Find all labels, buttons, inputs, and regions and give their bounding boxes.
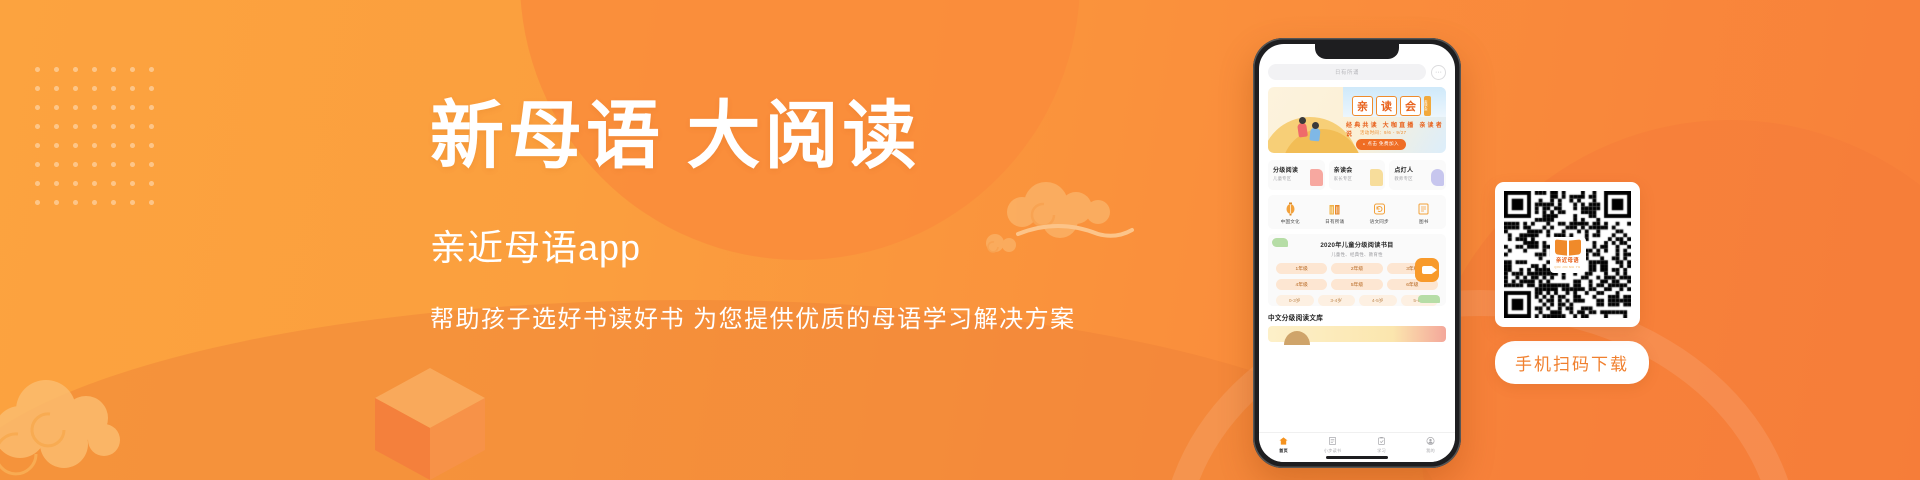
hero-child-red [1297,122,1308,137]
banner-copy: 新母语 大阅读 亲近母语app 帮助孩子选好书读好书 为您提供优质的母语学习解决… [430,96,1230,334]
hero-child-blue [1309,128,1320,142]
age-pill[interactable]: 4-5岁 [1359,295,1397,306]
download-button[interactable]: 手机扫码下载 [1495,341,1649,384]
decor-cube-icon [370,364,490,480]
banner-tagline: 帮助孩子选好书读好书 为您提供优质的母语学习解决方案 [430,299,1230,334]
book-page-left [1555,239,1567,255]
quick-icon-label: 日有所诵 [1325,219,1344,225]
hero-child-blue-head [1312,122,1319,129]
quick-icon-books[interactable]: 图书 [1402,202,1447,225]
clipboard-check-icon [1377,436,1386,446]
tab-label: 小步读书 [1324,448,1342,454]
hero-child-red-head [1299,117,1306,124]
decor-cloud-left-icon [0,374,174,480]
hero-title-char-1: 亲 [1352,96,1373,116]
decor-leaf-top [1272,238,1288,247]
purple-lamp-graphic [1431,169,1444,186]
promo-title: 2020年儿童分级阅读书目 [1268,240,1446,249]
grade-pill[interactable]: 2年级 [1331,263,1382,274]
phone-screen: 日有所诵 ··· 亲 读 会 亲读会 [1259,44,1455,462]
promo-banner: 新母语 大阅读 亲近母语app 帮助孩子选好书读好书 为您提供优质的母语学习解决… [0,0,1920,480]
decor-leaf-bottom [1418,295,1440,303]
lantern-icon [1284,202,1297,216]
hero-title: 亲 读 会 亲读会 [1352,96,1431,116]
hero-cta-button[interactable]: 点击 免费加入 [1356,139,1406,150]
yellow-book-graphic [1370,169,1383,186]
tab-label: 首页 [1279,448,1288,454]
book-icon [1328,436,1337,446]
grade-pill[interactable]: 5年级 [1331,279,1382,290]
qr-block: 亲近母语 QIN JIN MU YU 手机扫码下载 [1495,182,1649,384]
open-book-icon [1328,202,1341,216]
banner-headline: 新母语 大阅读 [430,96,1230,179]
brand-pinyin: QIN JIN MU YU [1554,265,1580,269]
hero-banner[interactable]: 亲 读 会 亲读会 经典共读 大咖直播 亲读者说 活动时间：9/6 - 9/27… [1268,87,1446,153]
category-card-teacher[interactable]: 点灯人 教师专区 [1389,160,1446,190]
grade-pill[interactable]: 1年级 [1276,263,1327,274]
quick-icon-label: 中国文化 [1281,219,1300,225]
category-card-graded-reading[interactable]: 分级阅读 儿童专区 [1268,160,1325,190]
decor-dot-grid [28,60,162,208]
hero-title-ribbon: 亲读会 [1424,96,1431,116]
tab-home[interactable]: 首页 [1259,436,1308,454]
grade-pill[interactable]: 4年级 [1276,279,1327,290]
video-play-icon[interactable] [1415,258,1439,282]
hero-title-char-2: 读 [1376,96,1397,116]
book-list-icon [1417,202,1430,216]
play-glyph [1422,266,1433,274]
home-indicator [1326,456,1388,459]
promo-card[interactable]: 2020年儿童分级阅读书目 儿童性、经典性、教育性 1年级 2年级 3年级 4年… [1268,234,1446,306]
refresh-circle-icon [1373,202,1386,216]
tab-label: 我的 [1426,448,1435,454]
quick-icon-textbook-sync[interactable]: 语文同步 [1357,202,1402,225]
category-row: 分级阅读 儿童专区 亲读会 家长专区 点灯人 教师专区 [1268,160,1446,190]
qr-center-logo: 亲近母语 QIN JIN MU YU [1550,237,1586,273]
quick-icon-chinese-culture[interactable]: 中国文化 [1268,202,1313,225]
tab-reading[interactable]: 小步读书 [1308,436,1357,454]
book-logo-icon [1555,240,1581,255]
quick-icon-row: 中国文化 日有所诵 [1268,195,1446,229]
library-title: 中文分级阅读文库 [1268,312,1446,322]
age-pill[interactable]: 3-4岁 [1318,295,1356,306]
user-circle-icon [1426,436,1435,446]
hero-title-char-3: 会 [1400,96,1421,116]
red-book-graphic [1310,169,1323,186]
book-page-right [1569,239,1581,255]
quick-icon-daily-recite[interactable]: 日有所诵 [1313,202,1358,225]
banner-subline: 亲近母语app [430,219,1230,271]
phone-mockup: 日有所诵 ··· 亲 读 会 亲读会 [1253,38,1461,468]
category-card-parent-club[interactable]: 亲读会 家长专区 [1329,160,1386,190]
brand-name: 亲近母语 [1556,256,1579,264]
promo-subtitle: 儿童性、经典性、教育性 [1268,252,1446,258]
phone-notch [1315,44,1399,59]
home-icon [1279,436,1288,446]
app-content: 日有所诵 ··· 亲 读 会 亲读会 [1259,44,1455,342]
tab-study[interactable]: 学习 [1357,436,1406,454]
quick-icon-label: 语文同步 [1370,219,1389,225]
search-input[interactable]: 日有所诵 [1268,64,1426,80]
tab-label: 学习 [1377,448,1386,454]
qr-code[interactable]: 亲近母语 QIN JIN MU YU [1495,182,1640,327]
age-pill[interactable]: 0-3岁 [1276,295,1314,306]
library-card[interactable] [1268,326,1446,342]
tab-profile[interactable]: 我的 [1406,436,1455,454]
quick-icon-label: 图书 [1419,219,1429,225]
app-search-row: 日有所诵 ··· [1268,64,1446,80]
hero-date: 活动时间：9/6 - 9/27 [1360,130,1407,136]
more-dots-icon[interactable]: ··· [1431,65,1446,80]
